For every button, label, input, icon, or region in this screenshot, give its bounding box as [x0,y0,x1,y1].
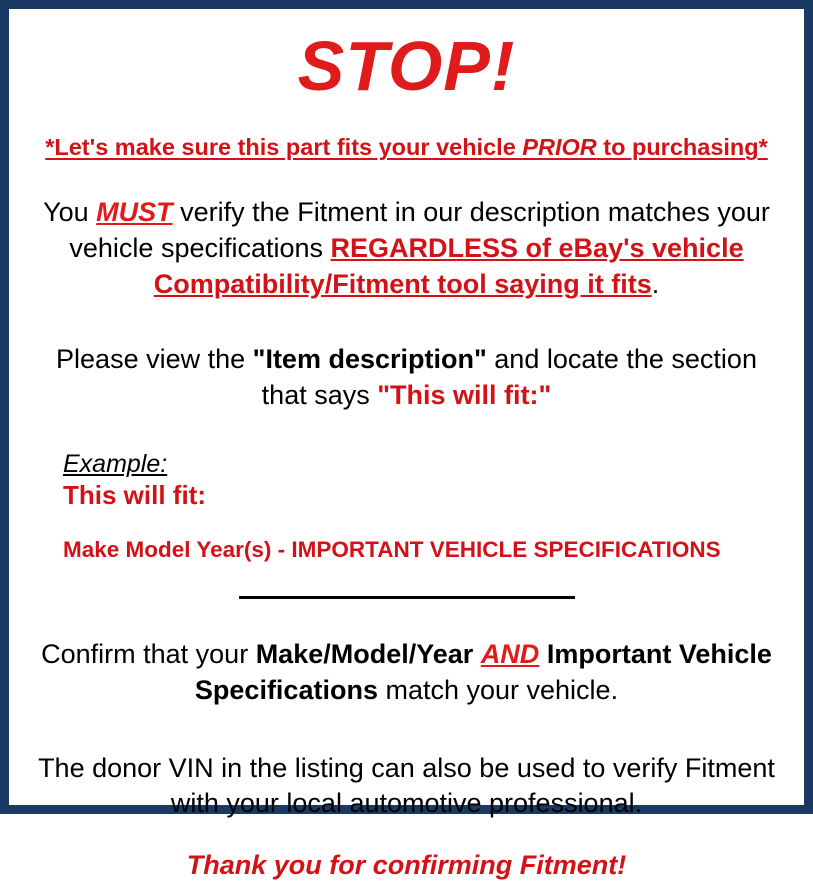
section-divider [239,596,575,599]
confirm-space-1 [473,639,481,669]
example-label-row: Example: [63,450,794,479]
must-verify-paragraph: You MUST verify the Fitment in our descr… [19,195,794,303]
example-this-will-fit: This will fit: [63,480,794,512]
example-label: Example: [63,450,167,479]
view-text-part-1: Please view the [56,344,253,374]
fitment-notice-card: STOP! *Let's make sure this part fits yo… [0,0,813,814]
subhead-lead-text: *Let's make sure this part fits your veh… [45,134,522,160]
confirm-space-2 [539,639,547,669]
emphasis-item-description: "Item description" [253,344,487,374]
donor-vin-paragraph: The donor VIN in the listing can also be… [19,751,794,823]
page-title: STOP! [19,27,794,105]
subhead-emphasis-prior: PRIOR [522,134,596,160]
subhead-tail-text: to purchasing* [597,134,768,160]
subheadline-verify-fit: *Let's make sure this part fits your veh… [19,133,794,162]
emphasis-make-model-year: Make/Model/Year [256,639,474,669]
confirm-text-part-1: Confirm that your [41,639,256,669]
view-description-paragraph: Please view the "Item description" and l… [19,342,794,414]
confirm-paragraph: Confirm that your Make/Model/Year AND Im… [19,637,794,709]
notice-inner: STOP! *Let's make sure this part fits yo… [9,9,804,805]
example-block: Example: This will fit: Make Model Year(… [19,450,794,562]
divider-row [19,589,794,607]
emphasis-must: MUST [96,197,173,227]
example-spec-line: Make Model Year(s) - IMPORTANT VEHICLE S… [63,536,794,563]
emphasis-and: AND [481,639,540,669]
must-text-part-3: . [652,269,660,299]
must-text-part-1: You [43,197,96,227]
emphasis-this-will-fit: "This will fit:" [377,380,551,410]
thank-you-message: Thank you for confirming Fitment! [19,848,794,883]
confirm-text-part-4: match your vehicle. [378,675,618,705]
